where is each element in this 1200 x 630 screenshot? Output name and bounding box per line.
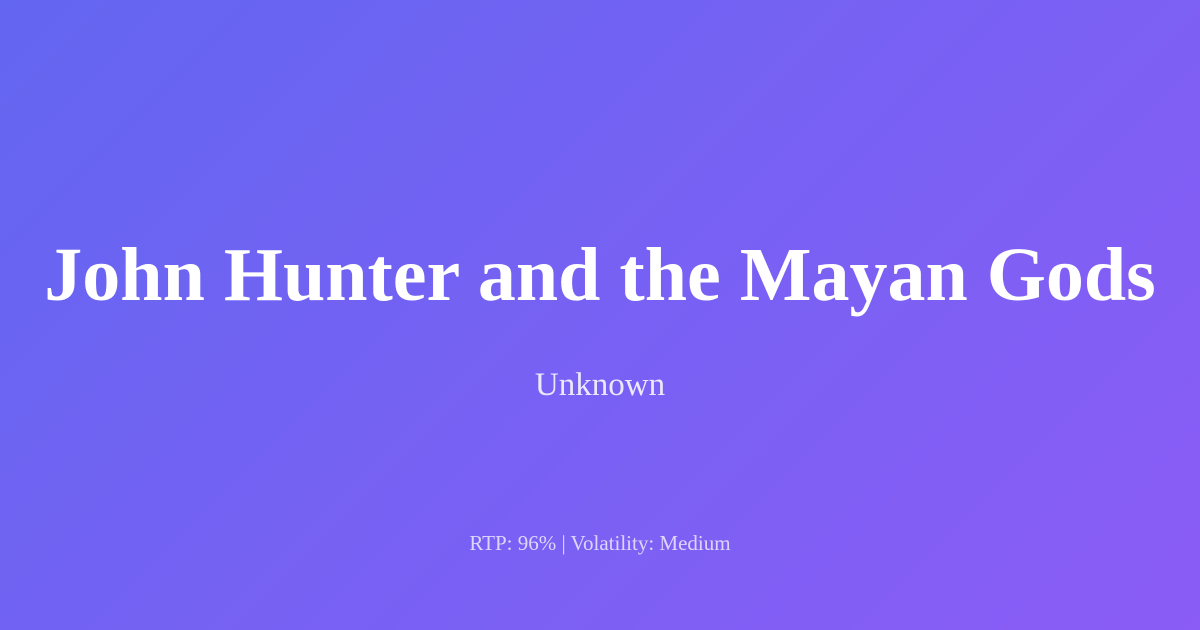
card-subtitle: Unknown (0, 363, 1200, 407)
card-meta-line: RTP: 96% | Volatility: Medium (0, 528, 1200, 558)
page-title: John Hunter and the Mayan Gods (44, 229, 1155, 321)
social-share-card: John Hunter and the Mayan Gods Unknown R… (0, 0, 1200, 630)
